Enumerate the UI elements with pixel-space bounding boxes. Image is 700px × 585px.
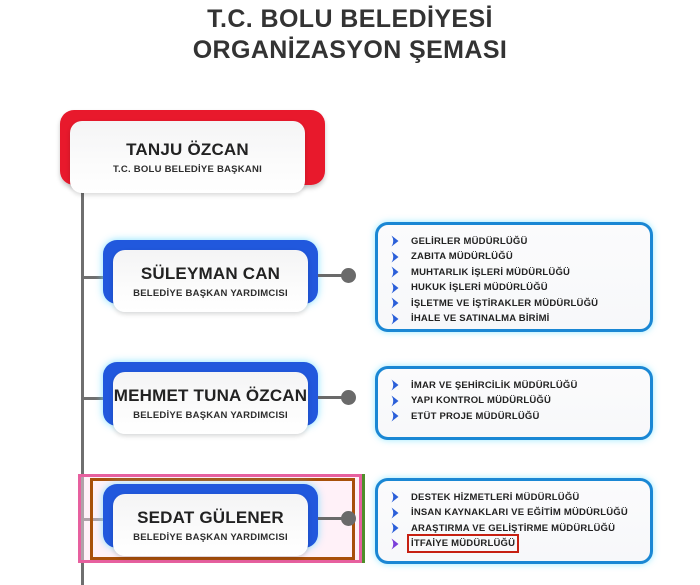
dept-label: DESTEK HİZMETLERİ MÜDÜRLÜĞÜ [411, 492, 579, 503]
dept-label: İTFAİYE MÜDÜRLÜĞÜ [411, 538, 515, 549]
deputy-role-3: BELEDİYE BAŞKAN YARDIMCISI [133, 532, 288, 543]
dept-panel-3: DESTEK HİZMETLERİ MÜDÜRLÜĞÜ İNSAN KAYNAK… [375, 478, 653, 564]
dept-item[interactable]: YAPI KONTROL MÜDÜRLÜĞÜ [390, 394, 638, 409]
title-line-1: T.C. BOLU BELEDİYESİ [0, 4, 700, 35]
deputy-role-2: BELEDİYE BAŞKAN YARDIMCISI [133, 410, 288, 421]
dept-item[interactable]: ETÜT PROJE MÜDÜRLÜĞÜ [390, 409, 638, 424]
dept-item-highlighted[interactable]: İTFAİYE MÜDÜRLÜĞÜ [390, 537, 638, 552]
dept-label: İNSAN KAYNAKLARI VE EĞİTİM MÜDÜRLÜĞÜ [411, 507, 628, 518]
chevron-right-icon [390, 282, 403, 294]
chevron-right-icon [390, 507, 403, 519]
dept-item[interactable]: HUKUK İŞLERİ MÜDÜRLÜĞÜ [390, 281, 638, 296]
dept-label: İHALE VE SATINALMA BİRİMİ [411, 313, 550, 324]
dept-label: ETÜT PROJE MÜDÜRLÜĞÜ [411, 411, 540, 422]
chevron-right-icon [390, 491, 403, 503]
chevron-right-icon [390, 235, 403, 247]
dept-item[interactable]: MUHTARLIK İŞLERİ MÜDÜRLÜĞÜ [390, 265, 638, 280]
chevron-right-icon [390, 538, 403, 550]
dept-label: GELİRLER MÜDÜRLÜĞÜ [411, 236, 528, 247]
chevron-right-icon [390, 522, 403, 534]
mayor-name: TANJU ÖZCAN [126, 140, 249, 160]
deputy-name-3: SEDAT GÜLENER [137, 508, 284, 528]
mayor-card[interactable]: TANJU ÖZCAN T.C. BOLU BELEDİYE BAŞKANI [70, 121, 305, 193]
deputy-name-2: MEHMET TUNA ÖZCAN [114, 386, 308, 406]
chevron-right-icon [390, 395, 403, 407]
deputy-card-1[interactable]: SÜLEYMAN CAN BELEDİYE BAŞKAN YARDIMCISI [113, 250, 308, 312]
chevron-right-icon [390, 410, 403, 422]
dept-label: ARAŞTIRMA VE GELİŞTİRME MÜDÜRLÜĞÜ [411, 523, 615, 534]
dept-panel-2: İMAR VE ŞEHİRCİLİK MÜDÜRLÜĞÜ YAPI KONTRO… [375, 366, 653, 440]
chevron-right-icon [390, 313, 403, 325]
mayor-role: T.C. BOLU BELEDİYE BAŞKANI [113, 164, 262, 175]
chevron-right-icon [390, 297, 403, 309]
chevron-right-icon [390, 251, 403, 263]
deputy-link-dot-2 [341, 390, 356, 405]
dept-item[interactable]: İMAR VE ŞEHİRCİLİK MÜDÜRLÜĞÜ [390, 378, 638, 393]
dept-item[interactable]: ZABITA MÜDÜRLÜĞÜ [390, 250, 638, 265]
dept-item[interactable]: GELİRLER MÜDÜRLÜĞÜ [390, 234, 638, 249]
deputy-card-2[interactable]: MEHMET TUNA ÖZCAN BELEDİYE BAŞKAN YARDIM… [113, 372, 308, 434]
page-title: T.C. BOLU BELEDİYESİ ORGANİZASYON ŞEMASI [0, 0, 700, 66]
chevron-right-icon [390, 266, 403, 278]
dept-panel-1: GELİRLER MÜDÜRLÜĞÜ ZABITA MÜDÜRLÜĞÜ MUHT… [375, 222, 653, 332]
deputy-card-3[interactable]: SEDAT GÜLENER BELEDİYE BAŞKAN YARDIMCISI [113, 494, 308, 556]
dept-item[interactable]: İŞLETME VE İŞTİRAKLER MÜDÜRLÜĞÜ [390, 296, 638, 311]
deputy-name-1: SÜLEYMAN CAN [141, 264, 280, 284]
dept-item[interactable]: İHALE VE SATINALMA BİRİMİ [390, 312, 638, 327]
dept-label: İMAR VE ŞEHİRCİLİK MÜDÜRLÜĞÜ [411, 380, 578, 391]
dept-label: MUHTARLIK İŞLERİ MÜDÜRLÜĞÜ [411, 267, 570, 278]
deputy-link-dot-3 [341, 511, 356, 526]
deputy-link-dot-1 [341, 268, 356, 283]
dept-label: ZABITA MÜDÜRLÜĞÜ [411, 251, 513, 262]
deputy-role-1: BELEDİYE BAŞKAN YARDIMCISI [133, 288, 288, 299]
dept-item[interactable]: İNSAN KAYNAKLARI VE EĞİTİM MÜDÜRLÜĞÜ [390, 506, 638, 521]
highlight-edge-green [362, 474, 365, 563]
dept-label: YAPI KONTROL MÜDÜRLÜĞÜ [411, 395, 551, 406]
chevron-right-icon [390, 379, 403, 391]
dept-label: İŞLETME VE İŞTİRAKLER MÜDÜRLÜĞÜ [411, 298, 598, 309]
title-line-2: ORGANİZASYON ŞEMASI [0, 35, 700, 66]
dept-item[interactable]: ARAŞTIRMA VE GELİŞTİRME MÜDÜRLÜĞÜ [390, 521, 638, 536]
dept-item[interactable]: DESTEK HİZMETLERİ MÜDÜRLÜĞÜ [390, 490, 638, 505]
trunk-vertical-line [81, 188, 84, 585]
dept-label: HUKUK İŞLERİ MÜDÜRLÜĞÜ [411, 282, 548, 293]
